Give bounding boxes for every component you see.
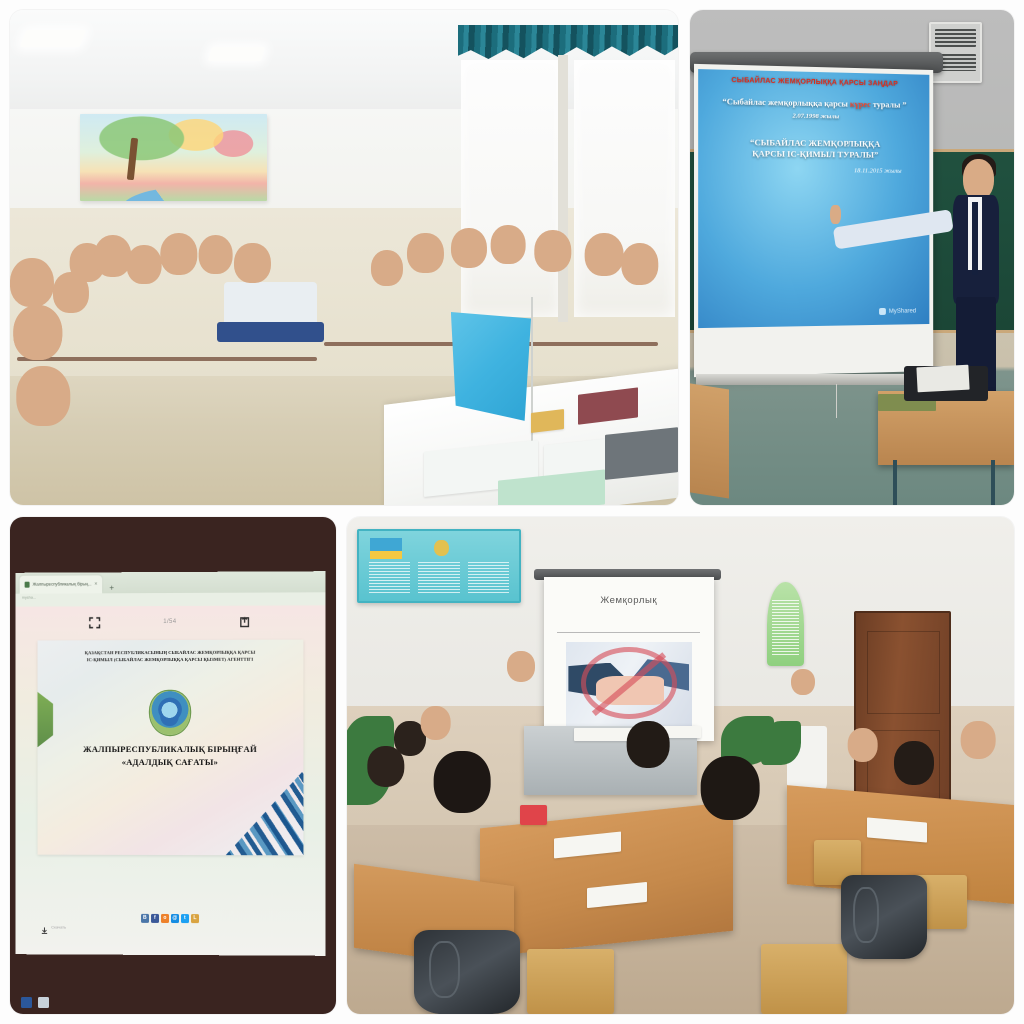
pointing-hand [830,205,840,224]
kazakhstan-flag-icon [370,538,402,559]
photo-print [605,427,678,479]
close-tab-icon[interactable]: × [94,581,97,587]
backpack [414,930,521,1014]
mailru-share-button[interactable]: @ [171,913,179,922]
viewer-toolbar[interactable]: 1/54 [16,605,326,638]
projector-screen-bottom-bar [696,374,936,385]
state-symbols-information-stand [357,529,521,603]
url-text: mysha... [22,596,36,600]
slide-title: ЖАЛПЫРЕСПУБЛИКАЛЫҚ БІРЫҢҒАЙ «АДАЛДЫҚ САҒ… [48,743,293,769]
slide-law-two-date: 18.11.2015 жылы [706,166,923,175]
slide-law-one: “Сыбайлас жемқорлыққа қарсы күрес туралы… [706,96,923,123]
browser-window[interactable]: Жалпыреспубликалық бірың... × + mysha... [16,571,326,955]
presentation-slide[interactable]: ҚАЗАҚСТАН РЕСПУБЛИКАСЫНЫҢ СЫБАЙЛАС ЖЕМҚО… [37,639,303,856]
law-slide: СЫБАЙЛАС ЖЕМҚОРЛЫҚҚА ҚАРСЫ ЗАҢДАР “Сыбай… [698,69,930,329]
lock-icon [24,581,29,587]
kazakhstan-flag [451,312,531,421]
laptop-screen-scene: Жалпыреспубликалық бірың... × + mysha... [10,517,336,1014]
browser-tab-bar[interactable]: Жалпыреспубликалық бірың... × + [16,571,326,593]
slide-law-one-date: 2.07.1998 жылы [793,112,840,122]
bribery-graphic [566,642,692,727]
childrens-mural [80,114,267,201]
slide-title: Жемқорлық [554,595,704,606]
paper-sheet [574,728,634,740]
vk-share-button[interactable]: B [141,913,149,922]
folded-card [531,409,564,433]
student-table-center [480,802,733,958]
myshared-watermark: MyShared [880,308,917,315]
window-frame [558,55,567,322]
water-bottle [520,805,547,825]
app-icon[interactable] [38,997,49,1008]
download-control[interactable]: Скачать [40,922,66,931]
paper-on-desk [916,365,969,392]
odnoklassniki-share-button[interactable]: o [161,913,169,922]
window-left [461,60,561,317]
page-content: 1/54 ҚАЗАҚСТАН РЕСПУБЛИКАСЫНЫҢ СЫБАЙЛАС … [16,605,326,955]
slide-law-two: “СЫБАЙЛАС ЖЕМҚОРЛЫҚҚА ҚАРСЫ ІС-ҚИМЫЛ ТУР… [706,136,923,162]
twitter-share-button[interactable]: t [181,913,189,922]
ceiling-lamp-center [208,47,265,61]
state-emblem-icon [150,691,190,735]
download-icon[interactable] [40,922,47,931]
mural-rainbow [121,187,252,201]
fullscreen-icon[interactable] [88,616,101,629]
green-wall-banner [767,582,804,666]
projector-room-scene: СЫБАЙЛАС ЖЕМҚОРЛЫҚҚА ҚАРСЫ ЗАҢДАР “Сыбай… [690,10,1014,505]
desk-leg [893,460,897,505]
myshared-logo-icon [880,308,887,315]
photo-panel-classroom-circle[interactable] [10,10,678,505]
photo-collage: СЫБАЙЛАС ЖЕМҚОРЛЫҚҚА ҚАРСЫ ЗАҢДАР “Сыбай… [0,0,1024,1024]
presenter-student [936,159,1011,402]
mural-tree-trunk [127,138,139,180]
ceiling-lamp-left [20,30,87,47]
tab-title: Жалпыреспубликалық бірың... [32,582,91,587]
livejournal-share-button[interactable]: L [191,913,199,922]
prohibition-sign-icon [581,647,677,719]
windows-taskbar[interactable] [15,992,325,1014]
backpack [841,875,928,959]
bench-bar-left [17,357,318,361]
chair [761,944,848,1014]
page-indicator: 1/54 [163,619,176,625]
classroom-lesson-scene: Жемқорлық [347,517,1014,1014]
photo-panel-classroom-lesson[interactable]: Жемқорлық [347,517,1014,1014]
prev-slide-arrow-icon[interactable] [37,691,53,747]
state-emblem-icon [434,540,448,557]
potted-plant [761,721,801,766]
facebook-share-button[interactable]: f [151,913,159,922]
photo-panel-browser-slide[interactable]: Жалпыреспубликалық бірың... × + mysha... [10,517,336,1014]
assembly-hall-scene [10,10,678,505]
projector-screen: Жемқорлық [544,577,714,741]
side-desk [690,383,729,499]
share-icon[interactable] [238,615,251,628]
empty-bench-seat [217,322,324,342]
photo-panel-projector-law[interactable]: СЫБАЙЛАС ЖЕМҚОРЛЫҚҚА ҚАРСЫ ЗАҢДАР “Сыбай… [690,10,1014,505]
slide-heading: СЫБАЙЛАС ЖЕМҚОРЛЫҚҚА ҚАРСЫ ЗАҢДАР [706,76,923,89]
slide-rule [557,632,700,633]
screen-pull-cord [836,384,838,419]
browser-tab[interactable]: Жалпыреспубликалық бірың... × [20,575,103,593]
slide-agency-header: ҚАЗАҚСТАН РЕСПУБЛИКАСЫНЫҢ СЫБАЙЛАС ЖЕМҚО… [53,650,287,664]
desk-leg [991,460,995,505]
new-tab-button[interactable]: + [109,583,114,592]
download-label: Скачать [51,924,66,929]
chair [527,949,614,1014]
word-icon[interactable] [21,997,32,1008]
